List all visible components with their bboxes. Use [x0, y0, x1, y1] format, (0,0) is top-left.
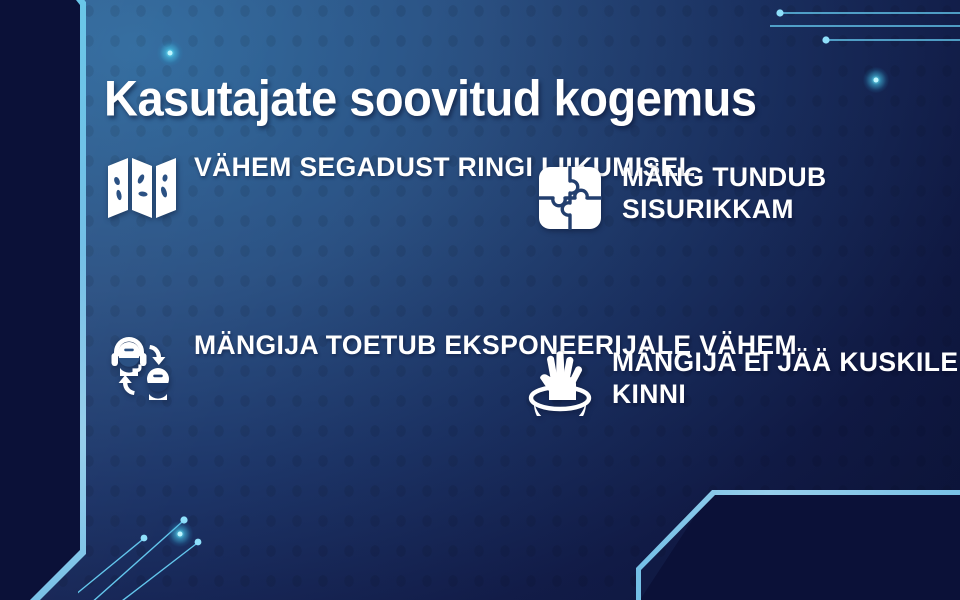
folded-map-icon	[104, 150, 180, 226]
puzzle-pieces-icon	[532, 160, 608, 236]
feature-item-no-getting-stuck: MÄNGIJA EI JÄÄ KUSKILE KINNI	[522, 345, 960, 421]
headset-support-exchange-icon	[104, 328, 180, 404]
slide-canvas: Kasutajate soovitud kogemus	[0, 0, 960, 600]
slide-title: Kasutajate soovitud kogemus	[104, 73, 757, 123]
hand-in-hole-icon	[522, 345, 598, 421]
slide-content: Kasutajate soovitud kogemus	[0, 0, 960, 600]
feature-label: MÄNGIJA EI JÄÄ KUSKILE KINNI	[612, 345, 960, 411]
feature-label: MÄNG TUNDUB SISURIKKAM	[622, 160, 960, 226]
feature-item-richer-game: MÄNG TUNDUB SISURIKKAM	[532, 160, 960, 236]
